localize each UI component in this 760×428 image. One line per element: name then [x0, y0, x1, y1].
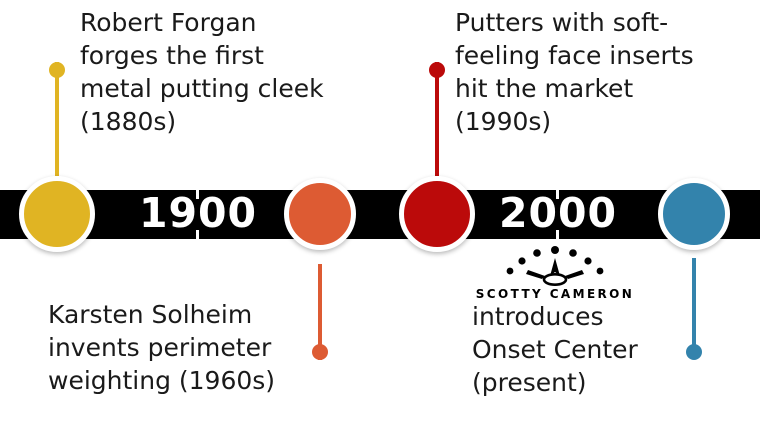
timeline-bar: [0, 190, 760, 239]
year-label-2000: 2000: [478, 190, 638, 239]
stem-face-inserts: [435, 62, 439, 176]
node-scotty-cameron[interactable]: [658, 178, 730, 250]
callout-forgan-text: Robert Forgan forges the first metal put…: [80, 6, 380, 138]
callout-face-inserts-text: Putters with soft- feeling face inserts …: [455, 6, 755, 138]
callout-solheim-text: Karsten Solheim invents perimeter weight…: [48, 298, 338, 397]
stem-dot-face-inserts: [429, 62, 445, 78]
stem-forgan: [55, 62, 59, 176]
stem-dot-forgan: [49, 62, 65, 78]
node-forgan[interactable]: [19, 176, 95, 252]
crown-icon: [501, 246, 609, 286]
scotty-cameron-logo: SCOTTY CAMERON: [470, 246, 640, 301]
scotty-cameron-wordmark: SCOTTY CAMERON: [470, 287, 640, 301]
year-label-1900: 1900: [118, 190, 278, 239]
node-solheim[interactable]: [284, 178, 356, 250]
node-face-inserts[interactable]: [399, 176, 475, 252]
callout-scotty-cameron-text: introduces Onset Center (present): [472, 300, 732, 399]
timeline-infographic: 1900 2000 Robert Forgan forges the first…: [0, 0, 760, 428]
